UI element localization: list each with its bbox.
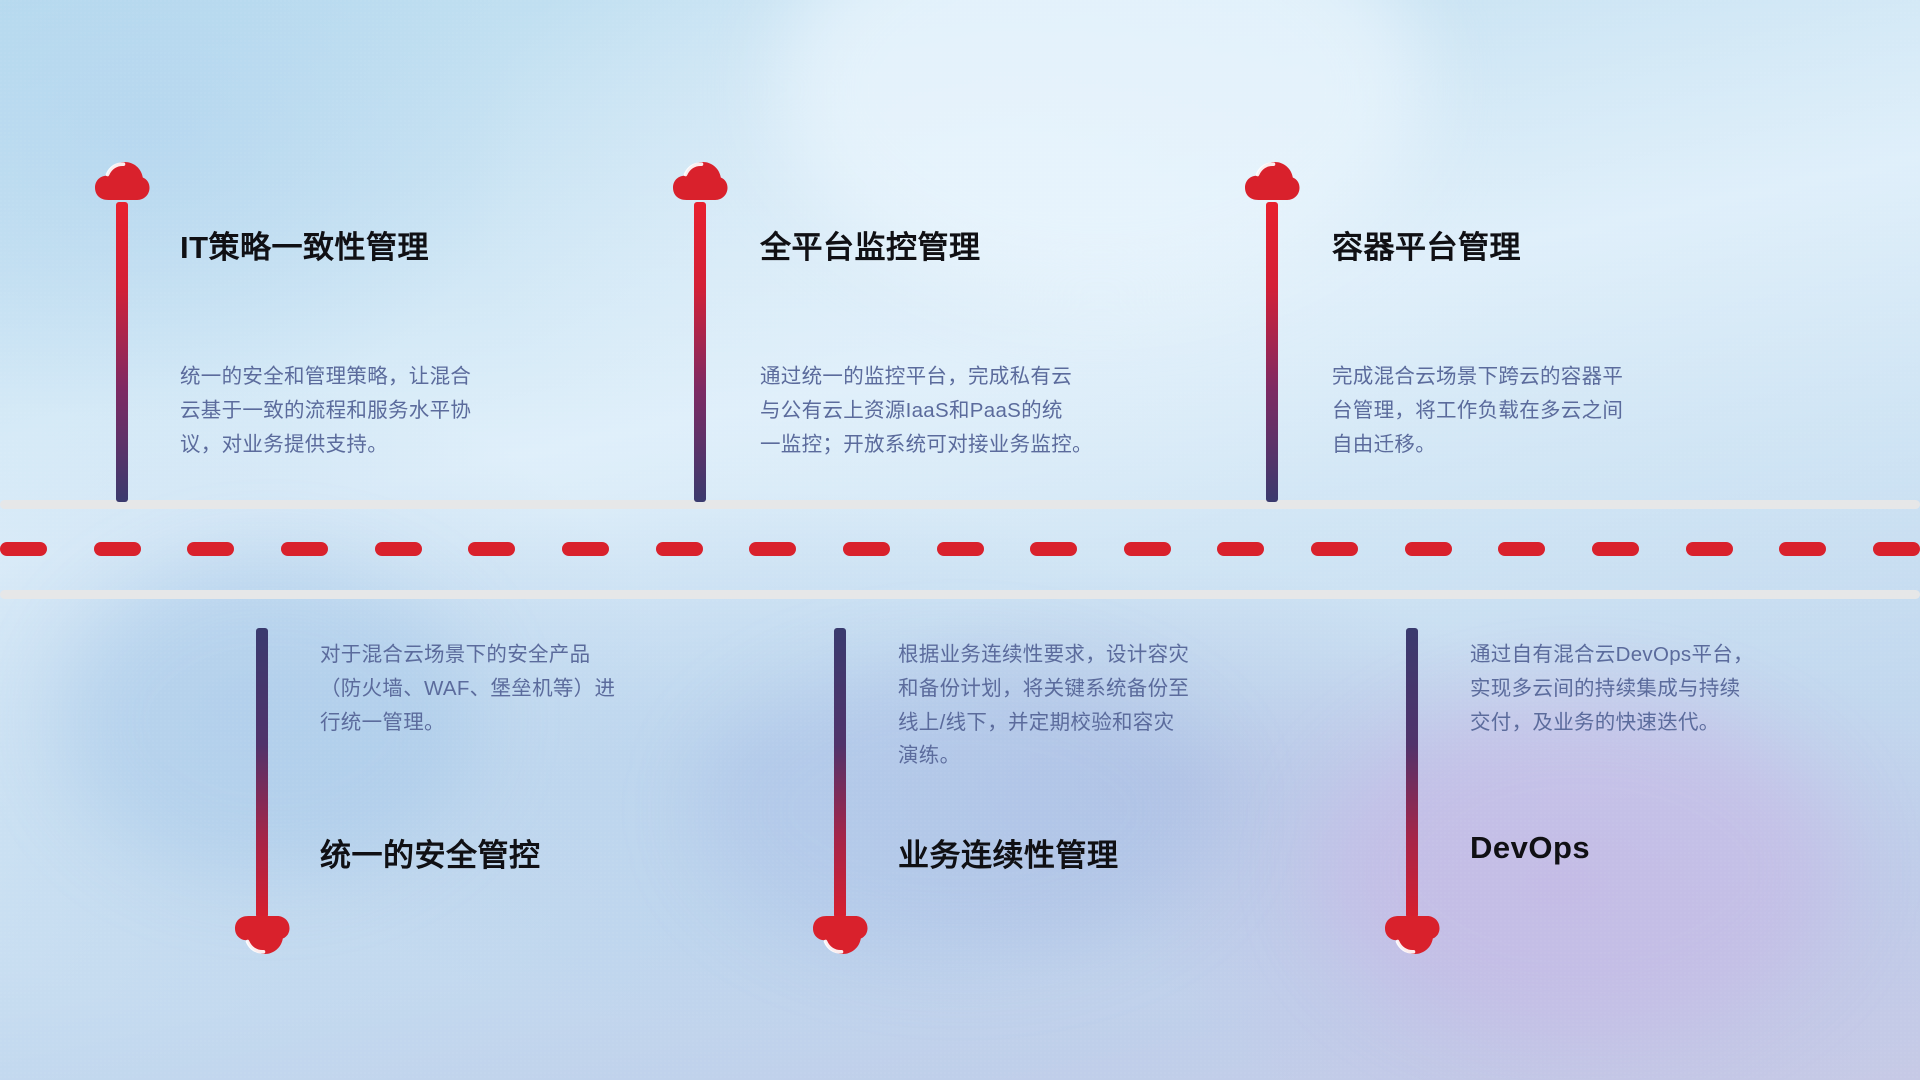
divider-dash bbox=[468, 542, 515, 556]
bottom-column-1-body: 对于混合云场景下的安全产品 （防火墙、WAF、堡垒机等）进 行统一管理。 bbox=[320, 638, 760, 739]
timeline-stem bbox=[256, 628, 268, 918]
divider-dash bbox=[1030, 542, 1077, 556]
divider-dash bbox=[1405, 542, 1452, 556]
timeline-stem bbox=[694, 202, 706, 502]
top-column-1-heading: IT策略一致性管理 bbox=[180, 222, 429, 267]
bottom-column-3-heading: DevOps bbox=[1470, 830, 1590, 866]
divider-dash bbox=[281, 542, 328, 556]
divider-dash bbox=[1779, 542, 1826, 556]
divider-dash bbox=[937, 542, 984, 556]
infographic-canvas: IT策略一致性管理 统一的安全和管理策略，让混合 云基于一致的流程和服务水平协 … bbox=[0, 0, 1920, 1080]
bottom-column-1-heading: 统一的安全管控 bbox=[320, 830, 541, 875]
cloud-icon bbox=[672, 160, 728, 202]
divider-dash bbox=[94, 542, 141, 556]
top-column-3-body: 完成混合云场景下跨云的容器平 台管理，将工作负载在多云之间 自由迁移。 bbox=[1332, 360, 1772, 461]
divider-dash bbox=[0, 542, 47, 556]
timeline-stem bbox=[1406, 628, 1418, 918]
divider-rail-upper bbox=[0, 500, 1920, 509]
divider-rail-lower bbox=[0, 590, 1920, 599]
top-column-2-heading: 全平台监控管理 bbox=[760, 222, 981, 267]
divider-dash bbox=[656, 542, 703, 556]
top-column-2-body: 通过统一的监控平台，完成私有云 与公有云上资源IaaS和PaaS的统 一监控；开… bbox=[760, 360, 1220, 461]
top-column-3-heading: 容器平台管理 bbox=[1332, 222, 1521, 267]
divider-dash bbox=[749, 542, 796, 556]
divider-dash bbox=[1498, 542, 1545, 556]
divider-dash bbox=[1124, 542, 1171, 556]
cloud-icon bbox=[94, 160, 150, 202]
timeline-stem bbox=[1266, 202, 1278, 502]
divider-dashed-line bbox=[0, 542, 1920, 556]
divider-dash bbox=[1686, 542, 1733, 556]
bottom-column-2-body: 根据业务连续性要求，设计容灾 和备份计划，将关键系统备份至 线上/线下，并定期校… bbox=[898, 638, 1348, 773]
cloud-icon bbox=[1384, 914, 1440, 956]
bottom-column-2-heading: 业务连续性管理 bbox=[898, 830, 1119, 875]
cloud-icon bbox=[234, 914, 290, 956]
timeline-stem bbox=[834, 628, 846, 918]
divider-dash bbox=[843, 542, 890, 556]
timeline-stem bbox=[116, 202, 128, 502]
divider-dash bbox=[1217, 542, 1264, 556]
divider-dash bbox=[187, 542, 234, 556]
bottom-column-3-body: 通过自有混合云DevOps平台， 实现多云间的持续集成与持续 交付，及业务的快速… bbox=[1470, 638, 1900, 739]
cloud-icon bbox=[1244, 160, 1300, 202]
background-glow-right bbox=[1320, 700, 1840, 1040]
divider-dash bbox=[1311, 542, 1358, 556]
divider-dash bbox=[1592, 542, 1639, 556]
divider-dash bbox=[375, 542, 422, 556]
cloud-icon bbox=[812, 914, 868, 956]
top-column-1-body: 统一的安全和管理策略，让混合 云基于一致的流程和服务水平协 议，对业务提供支持。 bbox=[180, 360, 620, 461]
divider-dash bbox=[562, 542, 609, 556]
divider-dash bbox=[1873, 542, 1920, 556]
